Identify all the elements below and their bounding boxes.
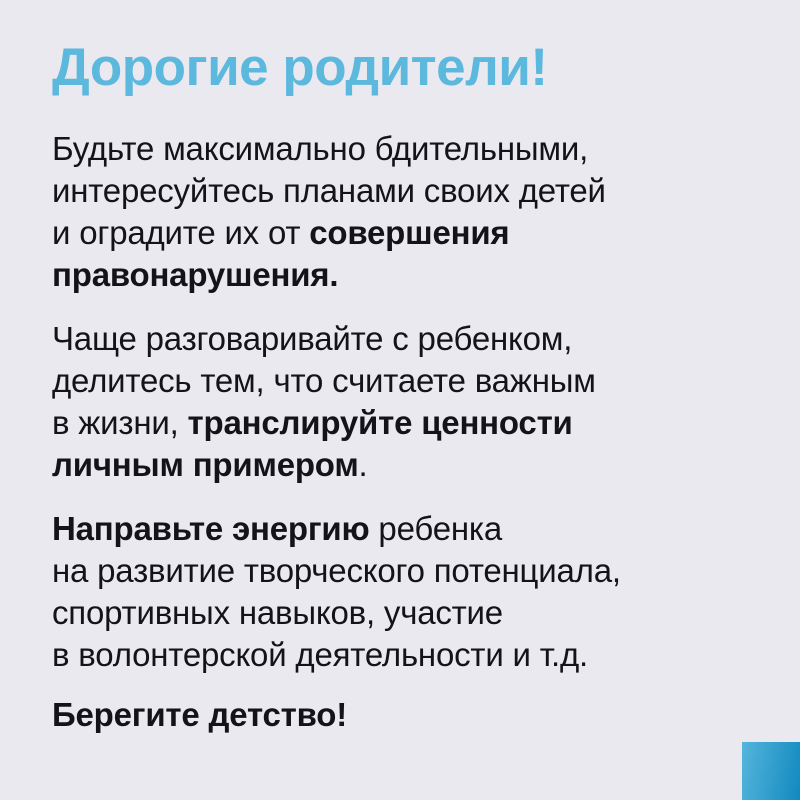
text-line: Чаще разговаривайте с ребенком, bbox=[52, 318, 762, 360]
poster-body-text: Будьте максимально бдительными,интересуй… bbox=[52, 128, 762, 736]
text-line: Будьте максимально бдительными, bbox=[52, 128, 762, 170]
corner-accent-square bbox=[742, 742, 800, 800]
emphasis-text: Направьте энергию bbox=[52, 510, 369, 547]
text-line: Берегите детство! bbox=[52, 694, 762, 736]
body-text: делитесь тем, что считаете важным bbox=[52, 362, 596, 399]
text-line: в волонтерской деятельности и т.д. bbox=[52, 634, 762, 676]
body-text: ребенка bbox=[369, 510, 502, 547]
text-line: и оградите их от совершения bbox=[52, 212, 762, 254]
text-line: делитесь тем, что считаете важным bbox=[52, 360, 762, 402]
paragraph-talk: Чаще разговаривайте с ребенком,делитесь … bbox=[52, 318, 762, 486]
body-text: интересуйтесь планами своих детей bbox=[52, 172, 606, 209]
body-text: в волонтерской деятельности и т.д. bbox=[52, 636, 588, 673]
body-text: спортивных навыков, участие bbox=[52, 594, 503, 631]
text-line: в жизни, транслируйте ценности bbox=[52, 402, 762, 444]
emphasis-text: совершения bbox=[309, 214, 509, 251]
poster-canvas: Дорогие родители! Будьте максимально бди… bbox=[0, 0, 800, 800]
text-line: Направьте энергию ребенка bbox=[52, 508, 762, 550]
emphasis-text: Берегите детство! bbox=[52, 696, 347, 733]
text-line: на развитие творческого потенциала, bbox=[52, 550, 762, 592]
body-text: в жизни, bbox=[52, 404, 188, 441]
text-line: спортивных навыков, участие bbox=[52, 592, 762, 634]
body-text: . bbox=[359, 446, 368, 483]
text-line: правонарушения. bbox=[52, 254, 762, 296]
body-text: на развитие творческого потенциала, bbox=[52, 552, 621, 589]
emphasis-text: личным примером bbox=[52, 446, 359, 483]
paragraph-energy: Направьте энергию ребенкана развитие тво… bbox=[52, 508, 762, 676]
text-line: личным примером. bbox=[52, 444, 762, 486]
page-title: Дорогие родители! bbox=[52, 38, 548, 98]
paragraph-vigilance: Будьте максимально бдительными,интересуй… bbox=[52, 128, 762, 296]
body-text: Чаще разговаривайте с ребенком, bbox=[52, 320, 572, 357]
paragraph-closing: Берегите детство! bbox=[52, 694, 762, 736]
text-line: интересуйтесь планами своих детей bbox=[52, 170, 762, 212]
emphasis-text: транслируйте ценности bbox=[188, 404, 573, 441]
body-text: и оградите их от bbox=[52, 214, 309, 251]
emphasis-text: правонарушения. bbox=[52, 256, 338, 293]
body-text: Будьте максимально бдительными, bbox=[52, 130, 588, 167]
